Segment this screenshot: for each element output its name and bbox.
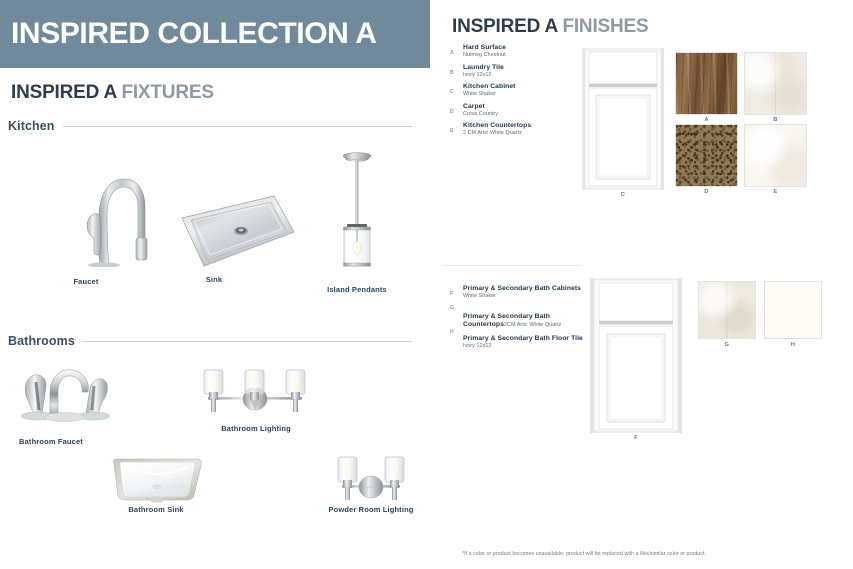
fixture-label-bathroom-sink: Bathroom Sink	[123, 505, 189, 514]
legend-subtitle: 2 CM Artic White Quartz	[463, 130, 570, 137]
page-banner: INSPIRED COLLECTION A	[0, 0, 430, 68]
legend-subtitle: Ivory 12x12	[463, 343, 600, 350]
swatch-label-a: A	[675, 117, 738, 123]
powder-room-light-image	[334, 455, 408, 505]
legend-title: Primary & Secondary Bath Floor Tile	[463, 335, 600, 343]
legend-letter: E	[450, 128, 454, 134]
legend-item: B Laundry Tile Ivory 12x12	[450, 64, 570, 79]
section-title-bathrooms: Bathrooms	[8, 334, 83, 348]
legend-letter: G	[450, 305, 454, 311]
legend-letter: D	[450, 109, 454, 115]
legend-item: D Carpet Cross Country	[450, 103, 570, 118]
legend-item: H Primary & Secondary Bath Floor Tile Iv…	[450, 335, 600, 350]
legend-subtitle: White Shaker	[463, 293, 600, 300]
swatch-label-g: G	[698, 342, 756, 348]
fixture-label-island-pendants: Island Pendants	[320, 285, 394, 294]
finishes-heading-light: FINISHES	[562, 16, 648, 37]
island-pendant-image	[330, 150, 384, 275]
swatch-a-hard-surface	[675, 52, 738, 115]
swatch-label-d: D	[675, 189, 738, 195]
legend-letter: C	[450, 89, 454, 95]
bathroom-faucet-image	[12, 362, 112, 424]
swatch-b-laundry-tile	[744, 52, 807, 115]
swatch-label-f: F	[590, 435, 682, 441]
fixture-label-powder-room-lighting: Powder Room Lighting	[325, 505, 417, 514]
swatch-d-carpet	[675, 124, 738, 187]
legend-item: G Primary & Secondary Bath Countertops2C…	[450, 313, 600, 329]
legend-letter: H	[450, 329, 454, 335]
finishes-heading: INSPIRED A FINISHES	[452, 16, 648, 38]
legend-title: Kitchen Cabinet	[463, 83, 570, 91]
legend-letter: B	[450, 70, 454, 76]
fixtures-heading-light: FIXTURES	[121, 82, 213, 103]
swatch-label-b: B	[744, 117, 807, 123]
legend-title: Laundry Tile	[463, 64, 570, 72]
bathroom-vanity-light-image	[198, 368, 312, 418]
swatch-label-e: E	[744, 189, 807, 195]
kitchen-cabinet-swatch-c	[582, 48, 664, 190]
legend-letter: A	[450, 50, 454, 56]
legend-title: Carpet	[463, 103, 570, 111]
swatch-h-bath-floor-tile	[764, 281, 822, 339]
legend-title: Hard Surface	[463, 44, 570, 52]
fixture-label-bathroom-lighting: Bathroom Lighting	[217, 424, 295, 433]
legend-subtitle: White Shaker	[463, 91, 570, 98]
legend-subtitle: Nutmeg Chestnut	[463, 52, 570, 59]
kitchen-faucet-image	[72, 152, 162, 267]
swatch-g-bath-countertop	[698, 281, 756, 339]
finishes-heading-strong: INSPIRED A	[452, 16, 557, 37]
legend-title: Kitchen Countertops	[463, 122, 570, 130]
finishes-legend-primary: A Hard Surface Nutmeg Chestnut B Laundry…	[450, 44, 570, 142]
kitchen-sink-image	[168, 192, 298, 270]
swatch-label-c: C	[582, 192, 664, 198]
legend-inline-subtitle: 2CM Artic White Quartz	[504, 322, 561, 328]
legend-item: E Kitchen Countertops 2 CM Artic White Q…	[450, 122, 570, 137]
legend-title: Primary & Secondary Bath Countertops2CM …	[463, 313, 600, 329]
fixture-label-faucet: Faucet	[60, 277, 112, 286]
legend-title: Primary & Secondary Bath Cabinets	[463, 285, 600, 293]
section-divider	[83, 341, 412, 342]
section-header-bathrooms: Bathrooms	[8, 334, 412, 348]
legend-letter: F	[450, 291, 453, 297]
collection-sheet: INSPIRED COLLECTION A INSPIRED A FIXTURE…	[0, 0, 853, 569]
fixture-label-sink: Sink	[189, 275, 239, 284]
fixtures-panel: INSPIRED COLLECTION A INSPIRED A FIXTURE…	[0, 0, 430, 569]
fixtures-heading: INSPIRED A FIXTURES	[11, 82, 214, 104]
legend-item: F Primary & Secondary Bath Cabinets Whit…	[450, 285, 600, 300]
fixture-label-bathroom-faucet: Bathroom Faucet	[8, 437, 94, 446]
swatch-label-h: H	[764, 342, 822, 348]
panel-divider	[442, 265, 582, 266]
section-divider	[63, 126, 412, 127]
fixtures-heading-strong: INSPIRED A	[11, 82, 116, 103]
legend-item: C Kitchen Cabinet White Shaker	[450, 83, 570, 98]
section-header-kitchen: Kitchen	[8, 119, 412, 133]
page-title: INSPIRED COLLECTION A	[0, 17, 377, 51]
finishes-legend-secondary: F Primary & Secondary Bath Cabinets Whit…	[450, 285, 600, 354]
legend-subtitle: Cross Country	[463, 111, 570, 118]
section-title-kitchen: Kitchen	[8, 119, 63, 133]
legend-item: A Hard Surface Nutmeg Chestnut	[450, 44, 570, 59]
bathroom-sink-image	[104, 455, 210, 505]
footnote-disclaimer: *If a color or product becomes unavailab…	[462, 551, 706, 557]
finishes-panel: INSPIRED A FINISHES A Hard Surface Nutme…	[430, 0, 853, 569]
swatch-e-kitchen-countertop	[744, 124, 807, 187]
legend-subtitle: Ivory 12x12	[463, 72, 570, 79]
bath-cabinet-swatch-f	[590, 278, 682, 433]
